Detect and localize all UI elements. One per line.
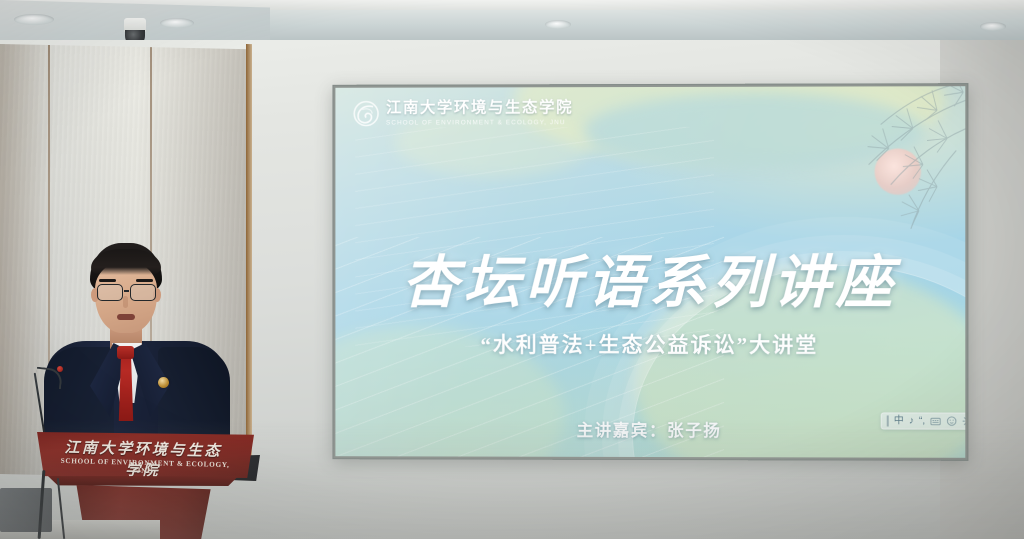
mouth: [117, 314, 135, 320]
wall-shadow: [0, 419, 1024, 539]
eyeglasses-bridge: [124, 290, 129, 292]
slide-title: 杏坛听语系列讲座: [335, 237, 965, 319]
lapel-pin-icon: [158, 377, 169, 388]
eyeglasses-right-lens: [130, 284, 156, 301]
slide-subtitle: “水利普法+生态公益诉讼”大讲堂: [335, 329, 965, 360]
recessed-downlight-icon: [160, 18, 194, 28]
eyebrow-right: [136, 279, 153, 282]
screenshot-root: 江南大学环境与生态学院 SCHOOL OF ENVIRONMENT & ECOL…: [0, 0, 1024, 539]
wood-panel-right-edge: [246, 44, 252, 474]
slide-org-name-cn: 江南大学环境与生态学院: [386, 101, 573, 118]
slide-org-name-en: SCHOOL OF ENVIRONMENT & ECOLOGY, JNU: [386, 119, 573, 126]
necktie-knot: [117, 346, 134, 359]
eyebrow-left: [99, 279, 116, 282]
eyeglasses-left-lens: [97, 284, 123, 301]
presentation-slide: 江南大学环境与生态学院 SCHOOL OF ENVIRONMENT & ECOL…: [335, 86, 965, 458]
recessed-downlight-icon: [980, 22, 1006, 31]
microphone-head-icon: [57, 366, 63, 372]
recessed-downlight-icon: [545, 20, 571, 29]
projection-screen: 江南大学环境与生态学院 SCHOOL OF ENVIRONMENT & ECOL…: [332, 83, 968, 461]
slide-header-logo: 江南大学环境与生态学院 SCHOOL OF ENVIRONMENT & ECOL…: [353, 100, 573, 126]
hair-fringe: [91, 249, 161, 275]
recessed-downlight-icon: [14, 14, 54, 25]
jnu-swirl-logo-icon: [353, 101, 379, 127]
nose: [123, 296, 128, 308]
